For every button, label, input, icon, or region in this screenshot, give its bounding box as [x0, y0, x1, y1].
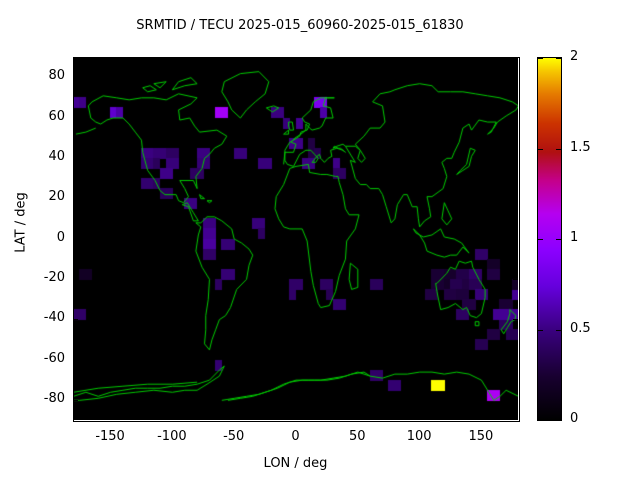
x-tick-mark — [172, 415, 173, 420]
colorbar-tick-label: 2 — [570, 49, 578, 64]
colorbar-tick-mark — [556, 149, 561, 150]
x-tick-label: 150 — [451, 429, 511, 444]
y-tick-mark — [73, 400, 78, 401]
x-tick-mark — [110, 415, 111, 420]
colorbar-tick-mark — [538, 239, 543, 240]
y-tick-mark — [513, 77, 518, 78]
y-tick-label: -40 — [5, 310, 65, 325]
y-tick-mark — [73, 239, 78, 240]
colorbar-tick-label: 1.5 — [570, 140, 591, 155]
y-tick-mark — [513, 158, 518, 159]
colorbar-tick-mark — [538, 149, 543, 150]
x-tick-mark — [357, 57, 358, 62]
x-axis-label: LON / deg — [73, 456, 518, 471]
x-tick-mark — [419, 415, 420, 420]
y-tick-label: 0 — [5, 230, 65, 245]
y-tick-mark — [73, 77, 78, 78]
chart-title: SRMTID / TECU 2025-015_60960-2025-015_61… — [0, 18, 600, 33]
y-axis-label: LAT / deg — [14, 173, 29, 273]
x-tick-label: -100 — [142, 429, 202, 444]
colorbar-tick-mark — [556, 330, 561, 331]
colorbar-tick-mark — [556, 58, 561, 59]
y-tick-mark — [513, 118, 518, 119]
map-plot-area[interactable] — [73, 57, 518, 420]
x-tick-mark — [357, 415, 358, 420]
y-tick-mark — [73, 118, 78, 119]
x-tick-mark — [481, 415, 482, 420]
y-tick-mark — [513, 198, 518, 199]
y-tick-label: 60 — [5, 109, 65, 124]
y-tick-label: -20 — [5, 270, 65, 285]
chart-figure: SRMTID / TECU 2025-015_60960-2025-015_61… — [0, 0, 640, 480]
colorbar-tick-label: 0 — [570, 411, 578, 426]
colorbar-tick-label: 0.5 — [570, 321, 591, 336]
colorbar-tick-mark — [538, 330, 543, 331]
y-tick-mark — [73, 319, 78, 320]
y-tick-mark — [513, 360, 518, 361]
x-tick-mark — [110, 57, 111, 62]
y-tick-mark — [513, 279, 518, 280]
x-tick-mark — [296, 415, 297, 420]
y-tick-label: 80 — [5, 68, 65, 83]
colorbar-tick-mark — [556, 239, 561, 240]
y-tick-mark — [73, 198, 78, 199]
x-tick-mark — [419, 57, 420, 62]
x-tick-label: -50 — [204, 429, 264, 444]
colorbar-tick-label: 1 — [570, 230, 578, 245]
y-tick-label: -80 — [5, 391, 65, 406]
x-tick-label: -150 — [80, 429, 140, 444]
y-tick-label: 20 — [5, 189, 65, 204]
coastline-layer — [73, 57, 518, 420]
y-tick-mark — [73, 360, 78, 361]
y-tick-label: 40 — [5, 149, 65, 164]
x-tick-mark — [296, 57, 297, 62]
y-tick-mark — [73, 279, 78, 280]
x-tick-label: 50 — [327, 429, 387, 444]
x-tick-mark — [234, 57, 235, 62]
x-tick-mark — [481, 57, 482, 62]
x-tick-mark — [172, 57, 173, 62]
y-tick-mark — [513, 400, 518, 401]
x-tick-label: 100 — [389, 429, 449, 444]
y-tick-mark — [73, 158, 78, 159]
x-tick-mark — [234, 415, 235, 420]
colorbar-tick-mark — [538, 58, 543, 59]
y-tick-mark — [513, 319, 518, 320]
y-tick-mark — [513, 239, 518, 240]
x-tick-label: 0 — [266, 429, 326, 444]
y-tick-label: -60 — [5, 351, 65, 366]
